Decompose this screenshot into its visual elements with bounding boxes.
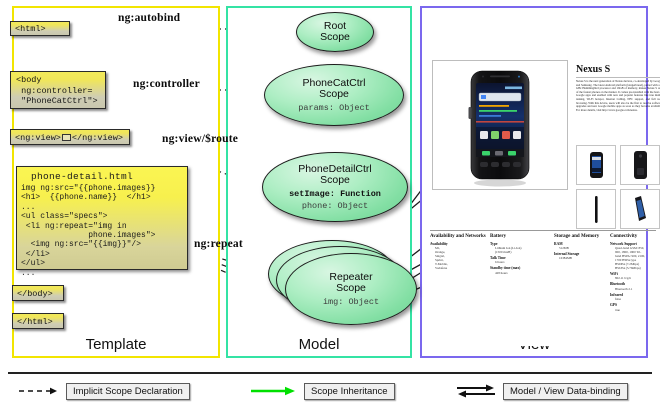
scope-phonecatctrl: PhoneCatCtrl Scope params: Object bbox=[264, 64, 404, 126]
specs-table: Availability and Networks Availability M… bbox=[428, 234, 658, 334]
legend-divider bbox=[8, 372, 652, 374]
legend-label-implicit-scope: Implicit Scope Declaration bbox=[66, 383, 190, 400]
legend-item-implicit-scope: Implicit Scope Declaration bbox=[18, 382, 190, 400]
spec-value-3-2-0: Bluetooth 2.1 bbox=[610, 287, 660, 291]
scope-phonecatctrl-title-2: Scope bbox=[319, 89, 349, 101]
spec-value-1-1-0: 6 hours bbox=[490, 260, 550, 264]
scope-repeater: Repeater Scope img: Object bbox=[285, 253, 417, 325]
spec-value-2-0-0: 512MB bbox=[554, 246, 608, 250]
code-box-html-close: </html> bbox=[12, 313, 64, 329]
scope-phonecatctrl-prop-params: params: Object bbox=[298, 103, 369, 113]
scope-phonedetailctrl: PhoneDetailCtrl Scope setImage: Function… bbox=[262, 152, 408, 222]
note-title: phone-detail.html bbox=[17, 167, 187, 184]
spec-value-1-0-1: (1500 mAH) bbox=[490, 250, 550, 254]
green-arrow-icon bbox=[250, 385, 298, 397]
code-box-ngview: <ng:view></ng:view> bbox=[10, 129, 130, 145]
ngview-close-tag: </ng:view> bbox=[72, 133, 123, 143]
label-ng-view-route: ng:view/$route bbox=[162, 133, 238, 145]
scope-root: Root Scope bbox=[296, 12, 374, 52]
thumbnail-1[interactable] bbox=[620, 145, 660, 185]
spec-value-0-0-5: Vodafone bbox=[430, 266, 486, 270]
thumb-angle-icon bbox=[621, 190, 659, 228]
legend-item-scope-inheritance: Scope Inheritance bbox=[250, 382, 395, 400]
spec-value-2-1-0: 16384MB bbox=[554, 256, 608, 260]
thumb-side-icon bbox=[577, 190, 615, 228]
spec-column-3: Connectivity Network Support Quad-band G… bbox=[610, 234, 660, 312]
legend-item-data-binding: Model / View Data-binding bbox=[455, 382, 628, 400]
diagram-canvas: Template Model View <html> <body ng:cont… bbox=[0, 0, 660, 420]
spec-column-2: Storage and Memory RAM 512MB Internal St… bbox=[554, 234, 608, 260]
thumbnail-0[interactable] bbox=[576, 145, 616, 185]
panel-model-label: Model bbox=[228, 336, 410, 353]
spec-heading-0: Availability and Networks bbox=[430, 234, 486, 240]
spec-column-1: Battery Type Lithium Ion (Li-Ion) (1500 … bbox=[490, 234, 550, 275]
code-box-body-open: <body ng:controller= "PhoneCatCtrl"> bbox=[10, 71, 106, 109]
scope-repeater-title-2: Scope bbox=[336, 283, 366, 295]
spec-value-3-0-5: HSUPA (5.76Mbps) bbox=[610, 266, 660, 270]
thumb-back-icon bbox=[621, 146, 659, 184]
code-box-html-open: <html> bbox=[10, 21, 70, 36]
product-title: Nexus S bbox=[576, 64, 610, 75]
product-description: Nexus S is the next generation of Nexus … bbox=[576, 80, 660, 140]
code-box-body-close: </body> bbox=[12, 285, 64, 301]
scope-phonedetailctrl-prop-phone: phone: Object bbox=[302, 201, 368, 211]
phone-hero-image-frame bbox=[432, 60, 568, 190]
label-ng-autobind: ng:autobind bbox=[118, 12, 180, 24]
spec-heading-3: Connectivity bbox=[610, 234, 660, 240]
spec-column-0: Availability and Networks Availability M… bbox=[430, 234, 486, 270]
dashed-arrow-icon bbox=[18, 385, 60, 397]
note-code: img ng:src="{{phone.images}} <h1> {{phon… bbox=[17, 184, 187, 278]
label-ng-repeat: ng:repeat bbox=[194, 238, 243, 250]
scope-phonedetailctrl-title-2: Scope bbox=[320, 175, 350, 187]
ngview-placeholder-icon bbox=[62, 134, 71, 141]
nexus-s-phone-image bbox=[433, 61, 567, 189]
panel-template-label: Template bbox=[14, 336, 218, 353]
title-divider bbox=[576, 77, 660, 78]
scope-phonedetailctrl-prop-setimage: setImage: Function bbox=[289, 189, 381, 199]
specs-divider bbox=[430, 230, 656, 231]
spec-value-3-1-0: 802.11 b/g/n bbox=[610, 276, 660, 280]
scope-root-title-2: Scope bbox=[320, 32, 350, 44]
thumb-front-icon bbox=[577, 146, 615, 184]
scope-repeater-prop-img: img: Object bbox=[323, 297, 379, 307]
spec-value-1-2-0: 428 hours bbox=[490, 271, 550, 275]
note-phone-detail-html: phone-detail.html img ng:src="{{phone.im… bbox=[16, 166, 188, 270]
thumbnail-3[interactable] bbox=[620, 189, 660, 229]
ngview-open-tag: <ng:view> bbox=[15, 133, 61, 143]
thumbnail-2[interactable] bbox=[576, 189, 616, 229]
label-ng-controller: ng:controller bbox=[133, 78, 200, 90]
spec-heading-1: Battery bbox=[490, 234, 550, 240]
spec-value-3-4-0: true bbox=[610, 308, 660, 312]
legend-label-data-binding: Model / View Data-binding bbox=[503, 383, 628, 400]
legend-label-scope-inheritance: Scope Inheritance bbox=[304, 383, 395, 400]
double-arrow-icon bbox=[455, 383, 497, 399]
spec-value-3-3-0: false bbox=[610, 297, 660, 301]
view-rendered-page: Nexus S Nexus S is the next generation o… bbox=[424, 14, 644, 346]
spec-heading-2: Storage and Memory bbox=[554, 234, 608, 240]
